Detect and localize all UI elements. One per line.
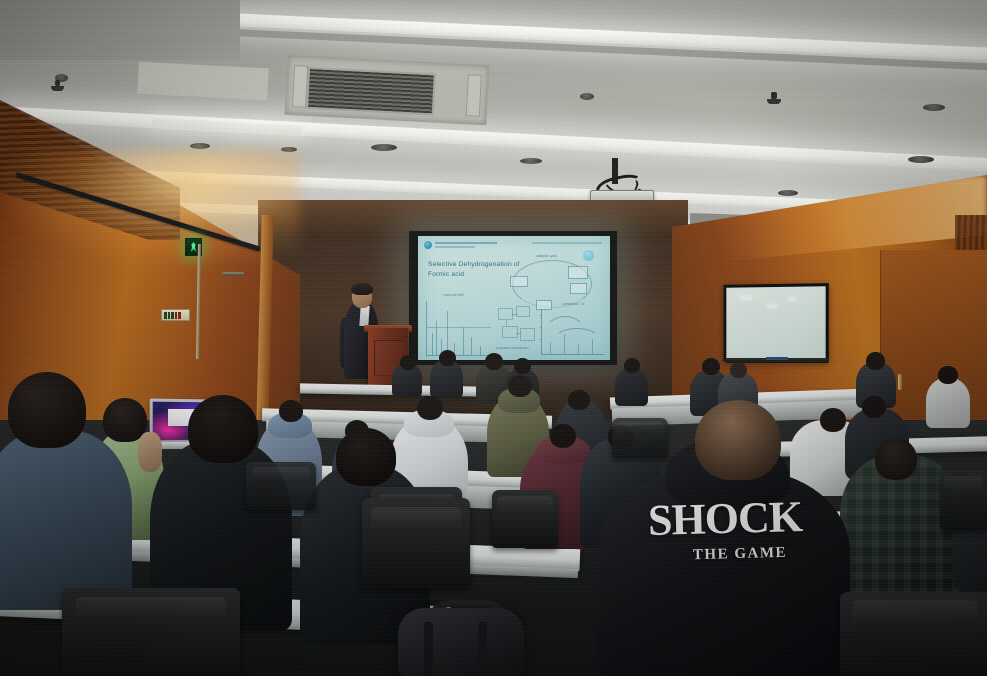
- kinetics-ytick-3: [540, 339, 542, 340]
- plaque-mark-5: [178, 312, 181, 319]
- kinetics-legend: conversion / %: [562, 302, 584, 306]
- slide-accent-circle: [583, 250, 594, 261]
- ac-vent-blade-left: [292, 65, 308, 107]
- chair-8[interactable]: [940, 470, 987, 530]
- plaque-mark-3: [171, 312, 174, 319]
- presenter-hair: [351, 283, 373, 295]
- whiteboard-glare-3: [787, 297, 797, 301]
- slide-cycle-node-3: [570, 283, 587, 294]
- backpack-strap-right: [478, 622, 487, 676]
- attendee-foreground-blue: [0, 430, 132, 610]
- wall-plaque: [161, 309, 190, 321]
- slide-logo-wordmark: [435, 242, 497, 244]
- plaque-mark-1: [164, 312, 167, 319]
- lecture-hall-photo: Selective Dehydrogenation of Formic acid…: [0, 0, 987, 676]
- slide-cycle-node-2: [568, 266, 588, 279]
- attendee-right-white-shirt-head: [820, 408, 846, 432]
- kinetics-ytick-1: [540, 315, 542, 316]
- whiteboard-surface[interactable]: [726, 286, 825, 359]
- attendee-blue-hoodie-head: [279, 400, 303, 422]
- sprinkler-head-2: [771, 92, 777, 99]
- ceiling-speaker-1: [190, 143, 210, 149]
- spectrum-peak-6: [463, 327, 464, 355]
- spectrum-axis-label: chemical shift: [443, 293, 464, 297]
- ceiling-slab-upper: [0, 0, 240, 60]
- slide-spectrum-plot: chemical shift: [426, 301, 491, 356]
- presenter-shirt: [359, 306, 369, 326]
- mechanism-structure-1: [498, 308, 513, 320]
- door-handle[interactable]: [222, 272, 244, 276]
- slide-header-right-rule: [532, 242, 602, 244]
- kinetics-bar-4: [592, 339, 593, 354]
- ceiling-speaker-3: [371, 144, 397, 151]
- spectrum-peak-1: [432, 333, 433, 355]
- attendee-right-dark-1-head: [862, 396, 886, 418]
- attendee-foreground-blue-head: [8, 372, 86, 448]
- slide-kinetics-plot: conversion / %: [541, 309, 604, 355]
- slide-logo-icon: [424, 241, 432, 249]
- plaque-mark-2: [168, 312, 171, 319]
- spectrum-peak-8: [480, 346, 481, 355]
- mechanism-structure-3: [502, 326, 518, 338]
- ceiling-speaker-6: [908, 156, 934, 163]
- smoke-detector-2: [580, 93, 594, 100]
- kinetics-ytick-2: [540, 327, 542, 328]
- ceiling-speaker-5: [520, 158, 542, 164]
- whiteboard-glare-1: [738, 295, 754, 300]
- mechanism-structure-4: [520, 328, 535, 341]
- chair-3[interactable]: [362, 498, 470, 588]
- chair-1[interactable]: [62, 588, 240, 676]
- backpack-strap-left: [424, 622, 433, 676]
- ceiling-ac-vent: [285, 55, 490, 125]
- whiteboard-marker[interactable]: [766, 357, 788, 360]
- ceiling-speaker-7: [778, 190, 798, 196]
- attendee-olive-jacket-head: [508, 375, 532, 397]
- attendee-plaid-coat-head: [875, 438, 917, 480]
- attendee-back-6-head: [702, 358, 720, 375]
- mechanism-arrow-3: [516, 333, 521, 334]
- attendee-maroon-jacket-head: [550, 424, 576, 448]
- attendee-foreground-mid-head: [336, 428, 396, 486]
- whiteboard-glare-2: [765, 304, 778, 308]
- spectrum-peak-7: [471, 337, 472, 355]
- attendee-back-8-head: [866, 352, 885, 370]
- exit-sign-running-man-icon: [190, 242, 197, 252]
- mechanism-arrow-2: [506, 320, 507, 326]
- left-wall-cove-glow: [0, 150, 300, 270]
- attendee-back-4-head: [514, 358, 531, 374]
- spectrum-divider: [427, 327, 491, 328]
- kinetics-bar-2: [564, 334, 565, 354]
- cabinet-handle-left[interactable]: [898, 374, 902, 390]
- attendee-foreground-dark-head: [188, 395, 258, 463]
- attendee-shock-hoodie-head: [695, 400, 781, 480]
- slide-cycle-node-1: [510, 276, 528, 287]
- attendee-back-9-head: [938, 366, 958, 384]
- sprinkler-head-1: [55, 80, 60, 86]
- attendee-navy-1-head: [568, 390, 590, 410]
- kinetics-bar-1: [550, 342, 551, 354]
- chair-6[interactable]: [246, 462, 316, 510]
- attendee-back-1-head: [400, 355, 416, 370]
- chair-7[interactable]: [612, 418, 668, 458]
- projection-screen-surface: Selective Dehydrogenation of Formic acid…: [418, 236, 610, 360]
- attendee-back-9: [926, 378, 970, 428]
- ceiling-tile-blank: [137, 62, 268, 101]
- mechanism-arrow-1: [512, 314, 518, 315]
- slide-cycle-label: catalytic cycle: [536, 254, 557, 258]
- attendee-with-laptop-arm: [138, 432, 162, 472]
- mechanism-caption: proposed mechanism: [496, 346, 528, 350]
- attendee-back-7-head: [730, 362, 747, 378]
- attendee-back-5: [615, 368, 648, 406]
- plaque-mark-4: [175, 312, 178, 319]
- ac-vent-grille: [306, 67, 436, 115]
- mechanism-structure-2: [516, 306, 530, 317]
- attendee-back-5-head: [624, 358, 640, 373]
- attendee-back-2-head: [439, 350, 456, 366]
- kinetics-bar-3: [578, 345, 579, 354]
- attendee-back-3-head: [485, 353, 503, 370]
- backpack[interactable]: [398, 608, 524, 676]
- ac-vent-blade-right: [466, 74, 482, 116]
- chair-5[interactable]: [840, 592, 987, 676]
- spectrum-peak-4: [447, 311, 448, 355]
- ceiling-speaker-4: [923, 104, 945, 111]
- chair-4[interactable]: [492, 490, 558, 548]
- slide-mechanism-scheme: proposed mechanism: [494, 302, 544, 356]
- slide-logo-subline: [435, 246, 475, 248]
- attendee-white-hoodie-head: [417, 396, 443, 420]
